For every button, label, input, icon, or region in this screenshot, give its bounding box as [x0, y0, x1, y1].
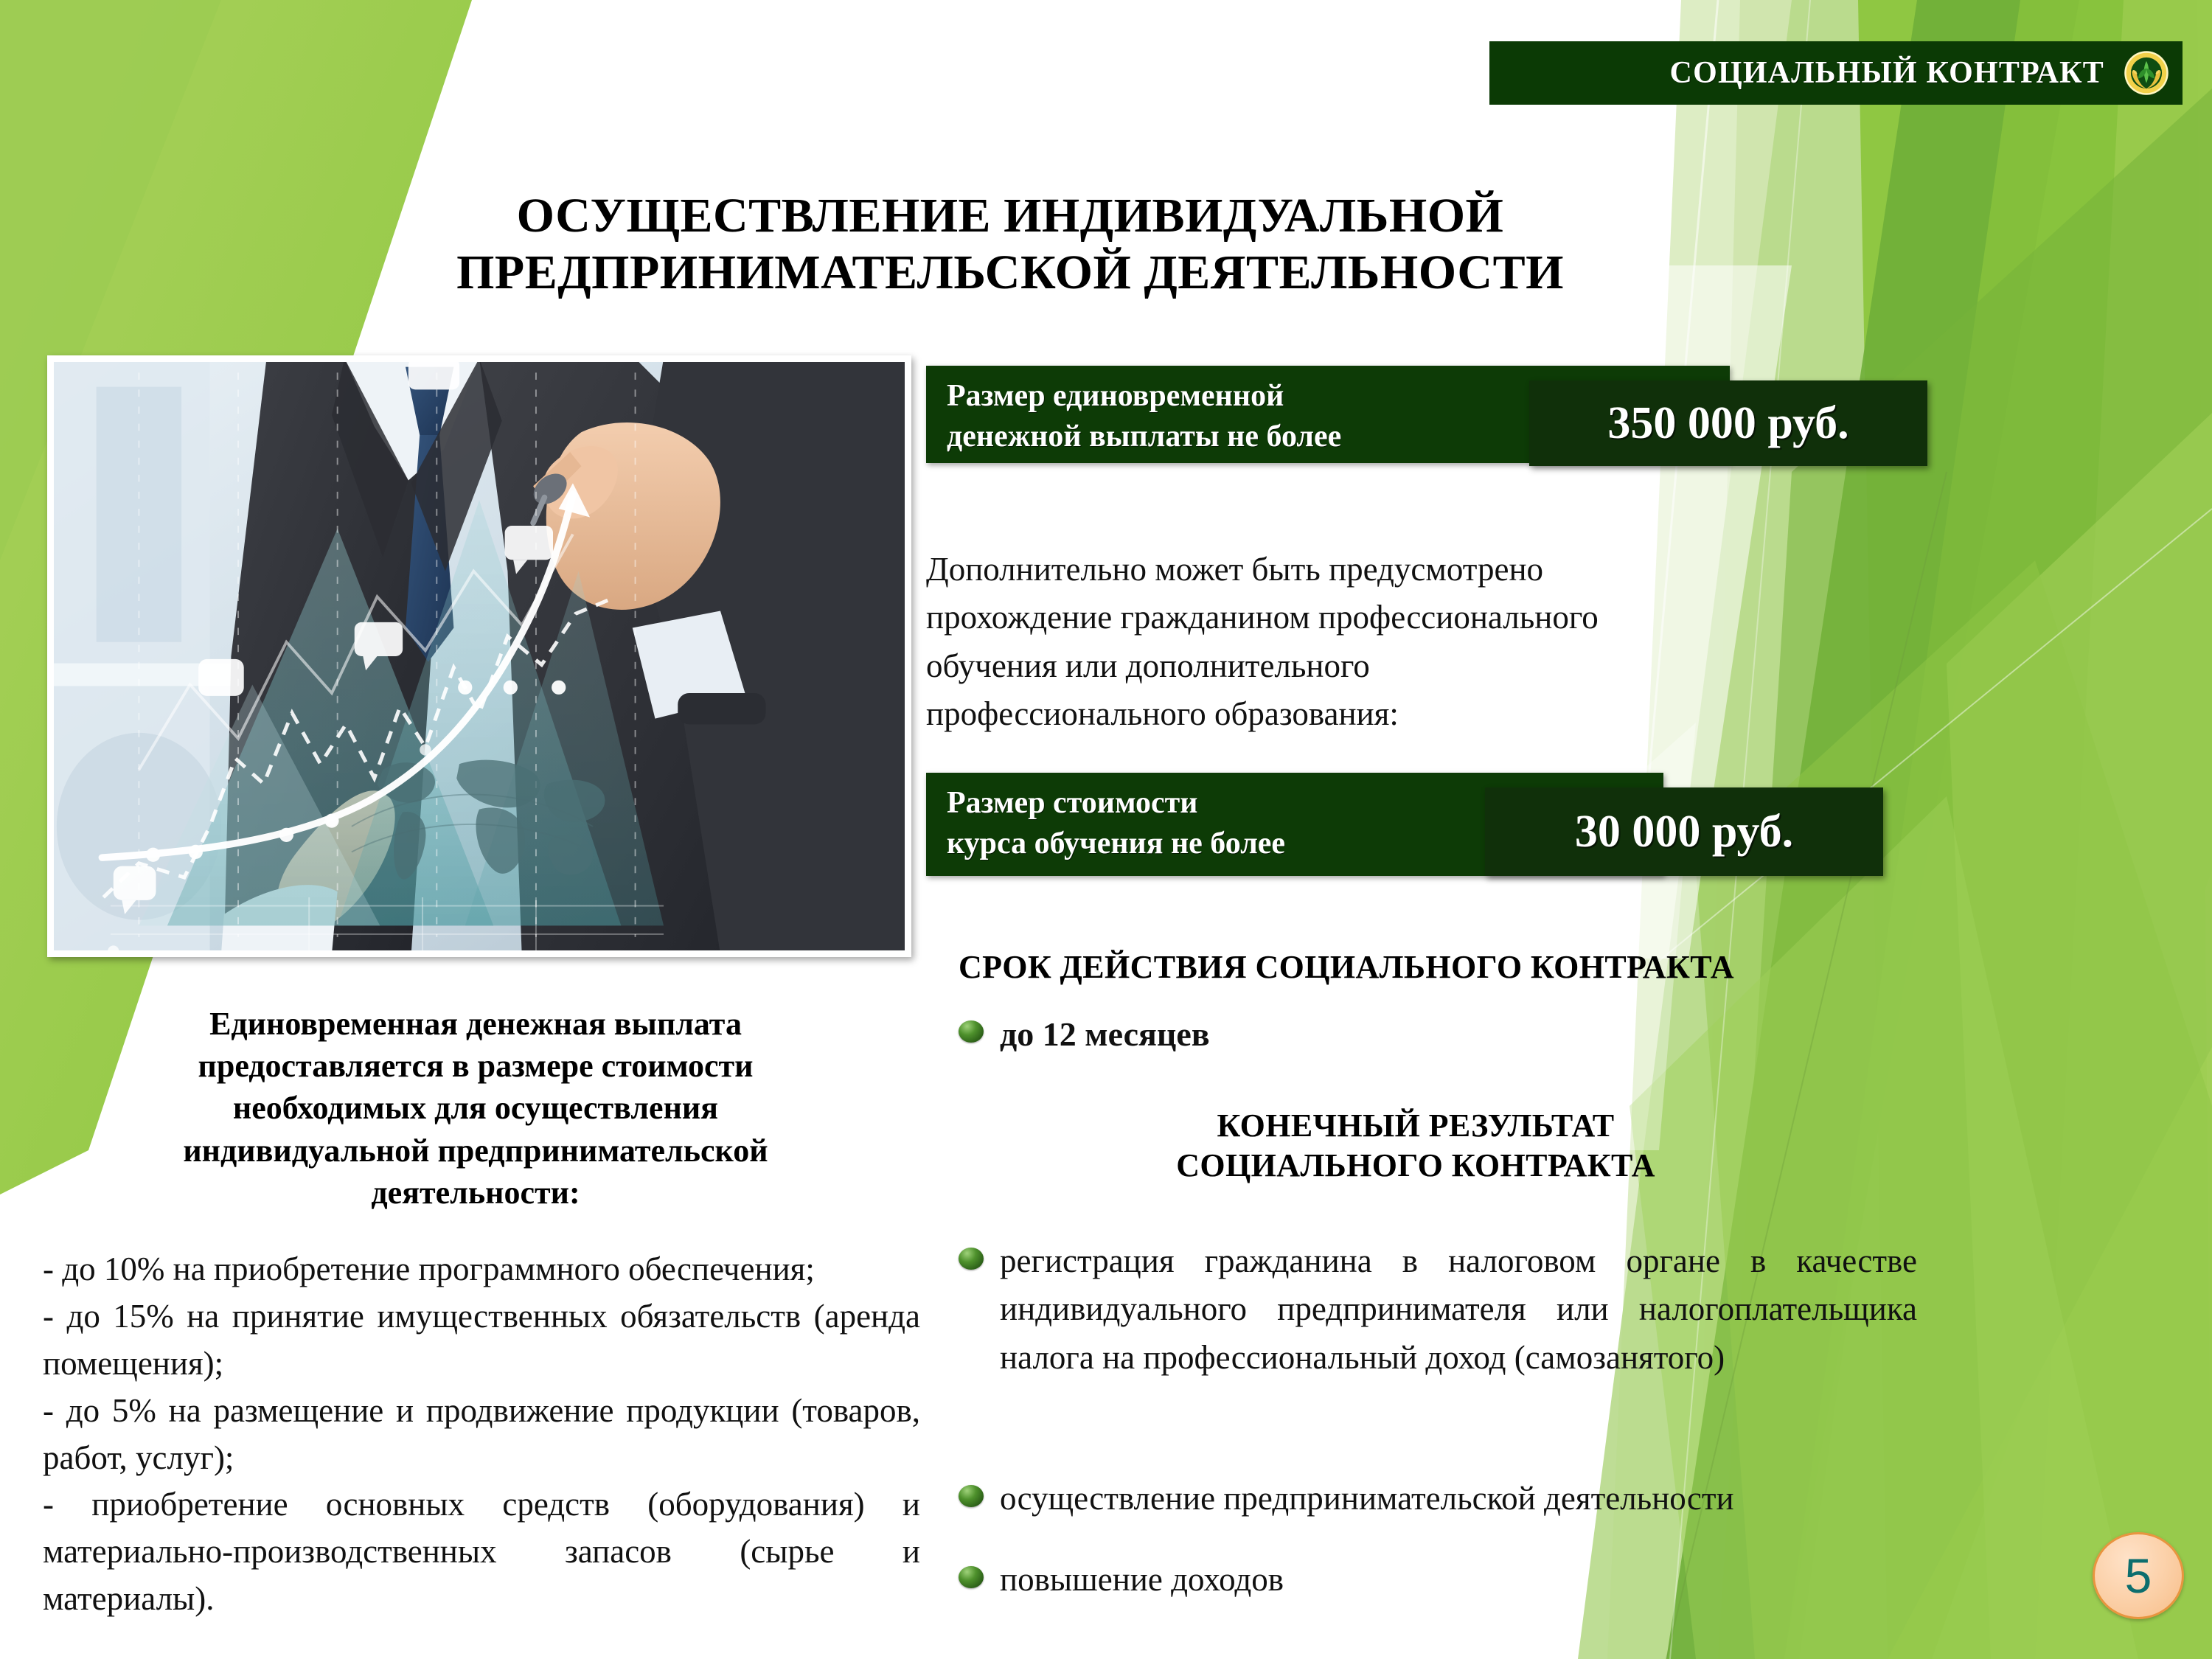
payment-caption-line-4: индивидуальной предпринимательской	[81, 1130, 870, 1172]
training-label-line-2: курса обучения не более	[947, 827, 1285, 860]
expense-item-equipment: - приобретение основных средств (оборудо…	[43, 1481, 920, 1623]
extra-paragraph-line-4: профессионального образования:	[926, 690, 1804, 738]
page-number-value: 5	[2125, 1548, 2152, 1604]
bullet-dot-icon	[959, 1485, 984, 1507]
extra-paragraph-line-3: обучения или дополнительного	[926, 642, 1804, 690]
slide-root: СОЦИАЛЬНЫЙ КОНТРАКТ ОСУЩЕСТВЛЕНИЕ ИНДИВИ…	[0, 0, 2212, 1659]
payment-amount-chip: 350 000 руб.	[1529, 380, 1927, 466]
header-title: СОЦИАЛЬНЫЙ КОНТРАКТ	[1670, 55, 2104, 91]
header-ribbon: СОЦИАЛЬНЫЙ КОНТРАКТ	[1489, 41, 2183, 105]
result-bullet-activity: осуществление предпринимательской деятел…	[959, 1475, 1932, 1523]
result-bullet-income: повышение доходов	[959, 1556, 1696, 1604]
wheat-wreath-emblem	[2124, 50, 2169, 96]
page-title: ОСУЩЕСТВЛЕНИЕ ИНДИВИДУАЛЬНОЙ ПРЕДПРИНИМА…	[310, 188, 1711, 301]
training-cost-chip: 30 000 руб.	[1485, 787, 1883, 876]
page-title-line-1: ОСУЩЕСТВЛЕНИЕ ИНДИВИДУАЛЬНОЙ	[310, 188, 1711, 245]
training-label-line-1: Размер стоимости	[947, 786, 1198, 820]
result-bullet-registration-label: регистрация гражданина в налоговом орган…	[1000, 1237, 1917, 1382]
final-result-heading: КОНЕЧНЫЙ РЕЗУЛЬТАТ СОЦИАЛЬНОГО КОНТРАКТА	[959, 1106, 1873, 1185]
businessman-growth-chart-photo	[54, 362, 905, 950]
payment-caption: Единовременная денежная выплата предоста…	[81, 1003, 870, 1214]
payment-amount-value: 350 000 руб.	[1607, 397, 1848, 450]
extra-paragraph-line-2: прохождение гражданином профессиональног…	[926, 594, 1804, 641]
bullet-dot-icon	[959, 1566, 984, 1588]
page-title-line-2: ПРЕДПРИНИМАТЕЛЬСКОЙ ДЕЯТЕЛЬНОСТИ	[310, 245, 1711, 302]
page-number-badge: 5	[2093, 1532, 2184, 1619]
payment-caption-line-3: необходимых для осуществления	[81, 1087, 870, 1129]
payment-caption-line-2: предоставляется в размере стоимости	[81, 1045, 870, 1087]
extra-paragraph-line-1: Дополнительно может быть предусмотрено	[926, 546, 1804, 594]
payment-caption-line-5: деятельности:	[81, 1172, 870, 1214]
final-result-heading-line-1: КОНЕЧНЫЙ РЕЗУЛЬТАТ	[959, 1106, 1873, 1146]
result-bullet-activity-label: осуществление предпринимательской деятел…	[1000, 1475, 1734, 1523]
training-cost-value: 30 000 руб.	[1575, 806, 1793, 858]
training-cost-label: Размер стоимости курса обучения не более	[947, 783, 1285, 863]
expense-item-promotion: - до 5% на размещение и продвижение прод…	[43, 1388, 920, 1482]
payment-caption-line-1: Единовременная денежная выплата	[81, 1003, 870, 1045]
final-result-heading-line-2: СОЦИАЛЬНОГО КОНТРАКТА	[959, 1146, 1873, 1186]
payment-amount-label: Размер единовременной денежной выплаты н…	[947, 376, 1341, 456]
expense-categories-list: - до 10% на приобретение программного об…	[43, 1246, 920, 1623]
contract-term-bullet: до 12 месяцев	[959, 1010, 1622, 1060]
illustration-frame	[47, 355, 911, 957]
contract-term-heading: СРОК ДЕЙСТВИЯ СОЦИАЛЬНОГО КОНТРАКТА	[959, 948, 1910, 986]
expense-item-software: - до 10% на приобретение программного об…	[43, 1246, 920, 1293]
payment-label-line-2: денежной выплаты не более	[947, 420, 1341, 453]
additional-training-paragraph: Дополнительно может быть предусмотрено п…	[926, 546, 1804, 738]
expense-item-property: - до 15% на принятие имущественных обяза…	[43, 1293, 920, 1388]
bullet-dot-icon	[959, 1248, 984, 1270]
result-bullet-income-label: повышение доходов	[1000, 1556, 1284, 1604]
payment-label-line-1: Размер единовременной	[947, 379, 1284, 413]
result-bullet-registration: регистрация гражданина в налоговом орган…	[959, 1237, 1917, 1382]
bullet-dot-icon	[959, 1020, 984, 1043]
contract-term-bullet-label: до 12 месяцев	[1000, 1010, 1210, 1060]
